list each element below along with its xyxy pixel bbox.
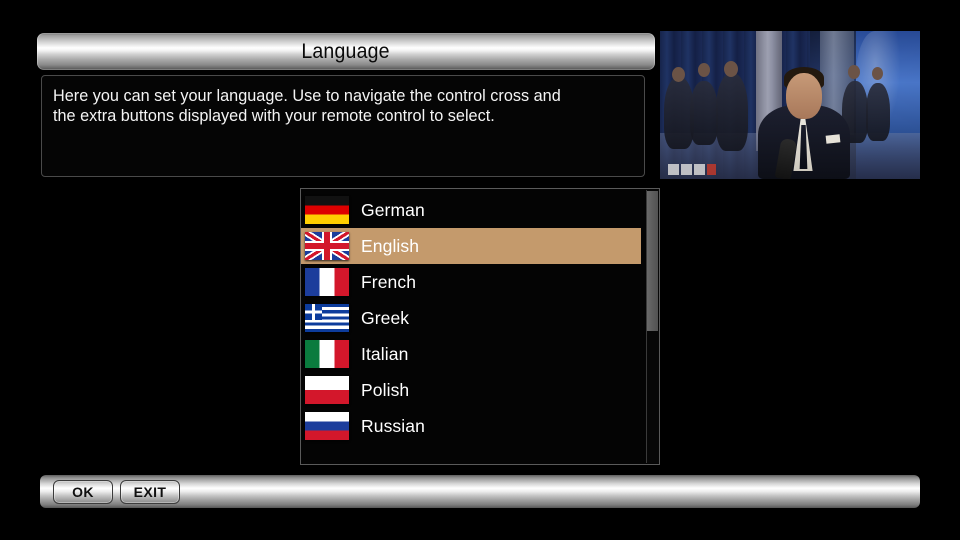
language-list-item[interactable]: Polish (301, 372, 641, 408)
language-list-item-label: Greek (361, 308, 409, 329)
preview-crowd-head (872, 67, 883, 80)
language-list-item[interactable]: Russian (301, 408, 641, 444)
language-list-item[interactable]: Greek (301, 300, 641, 336)
union-jack-layer (305, 232, 349, 260)
preview-crowd-figure (716, 73, 748, 151)
logo-chip (668, 164, 679, 175)
help-text-line-2: the extra buttons displayed with your re… (53, 106, 624, 126)
language-list-panel: GermanEnglishFrenchGreekItalianPolishRus… (300, 188, 660, 465)
flag-russia-icon (305, 412, 349, 440)
exit-button-label: EXIT (134, 484, 167, 500)
flag-poland-icon (305, 376, 349, 404)
logo-chip (681, 164, 692, 175)
preview-reporter-face (786, 73, 822, 119)
language-list-item[interactable]: English (301, 228, 641, 264)
ok-button[interactable]: OK (53, 480, 113, 504)
flag-united-kingdom-icon (305, 232, 349, 260)
language-list-item-label: French (361, 272, 416, 293)
preview-crowd-head (724, 61, 738, 77)
language-list: GermanEnglishFrenchGreekItalianPolishRus… (301, 192, 641, 444)
preview-crowd-head (848, 65, 860, 79)
flag-france-icon (305, 268, 349, 296)
preview-crowd-figure (690, 81, 718, 145)
language-list-item[interactable]: French (301, 264, 641, 300)
broadcaster-logo-bug (668, 164, 716, 175)
language-list-item[interactable]: German (301, 192, 641, 228)
tv-settings-screen: Language Here you can set your language.… (0, 0, 960, 540)
preview-crowd-figure (866, 83, 890, 141)
exit-button[interactable]: EXIT (120, 480, 180, 504)
preview-crowd-head (672, 67, 685, 82)
language-list-item-label: English (361, 236, 419, 257)
logo-chip-accent (707, 164, 716, 175)
flag-greece-icon (305, 304, 349, 332)
flag-italy-icon (305, 340, 349, 368)
language-list-item-label: Italian (361, 344, 408, 365)
help-text-line-1: Here you can set your language. Use to n… (53, 86, 624, 106)
bottom-action-bar: OK EXIT (40, 475, 920, 508)
language-list-item-label: Polish (361, 380, 409, 401)
flag-germany-icon (305, 196, 349, 224)
help-text-box: Here you can set your language. Use to n… (41, 75, 645, 177)
page-title: Language (302, 40, 390, 64)
preview-crowd-head (698, 63, 710, 77)
ok-button-label: OK (72, 484, 94, 500)
language-list-item[interactable]: Italian (301, 336, 641, 372)
language-list-item-label: Russian (361, 416, 425, 437)
language-list-item-label: German (361, 200, 425, 221)
list-scrollbar-thumb[interactable] (647, 191, 658, 331)
logo-chip (694, 164, 705, 175)
page-title-bar: Language (37, 33, 655, 70)
preview-reporter-pocket-square (826, 134, 841, 143)
live-tv-preview[interactable] (660, 31, 920, 179)
